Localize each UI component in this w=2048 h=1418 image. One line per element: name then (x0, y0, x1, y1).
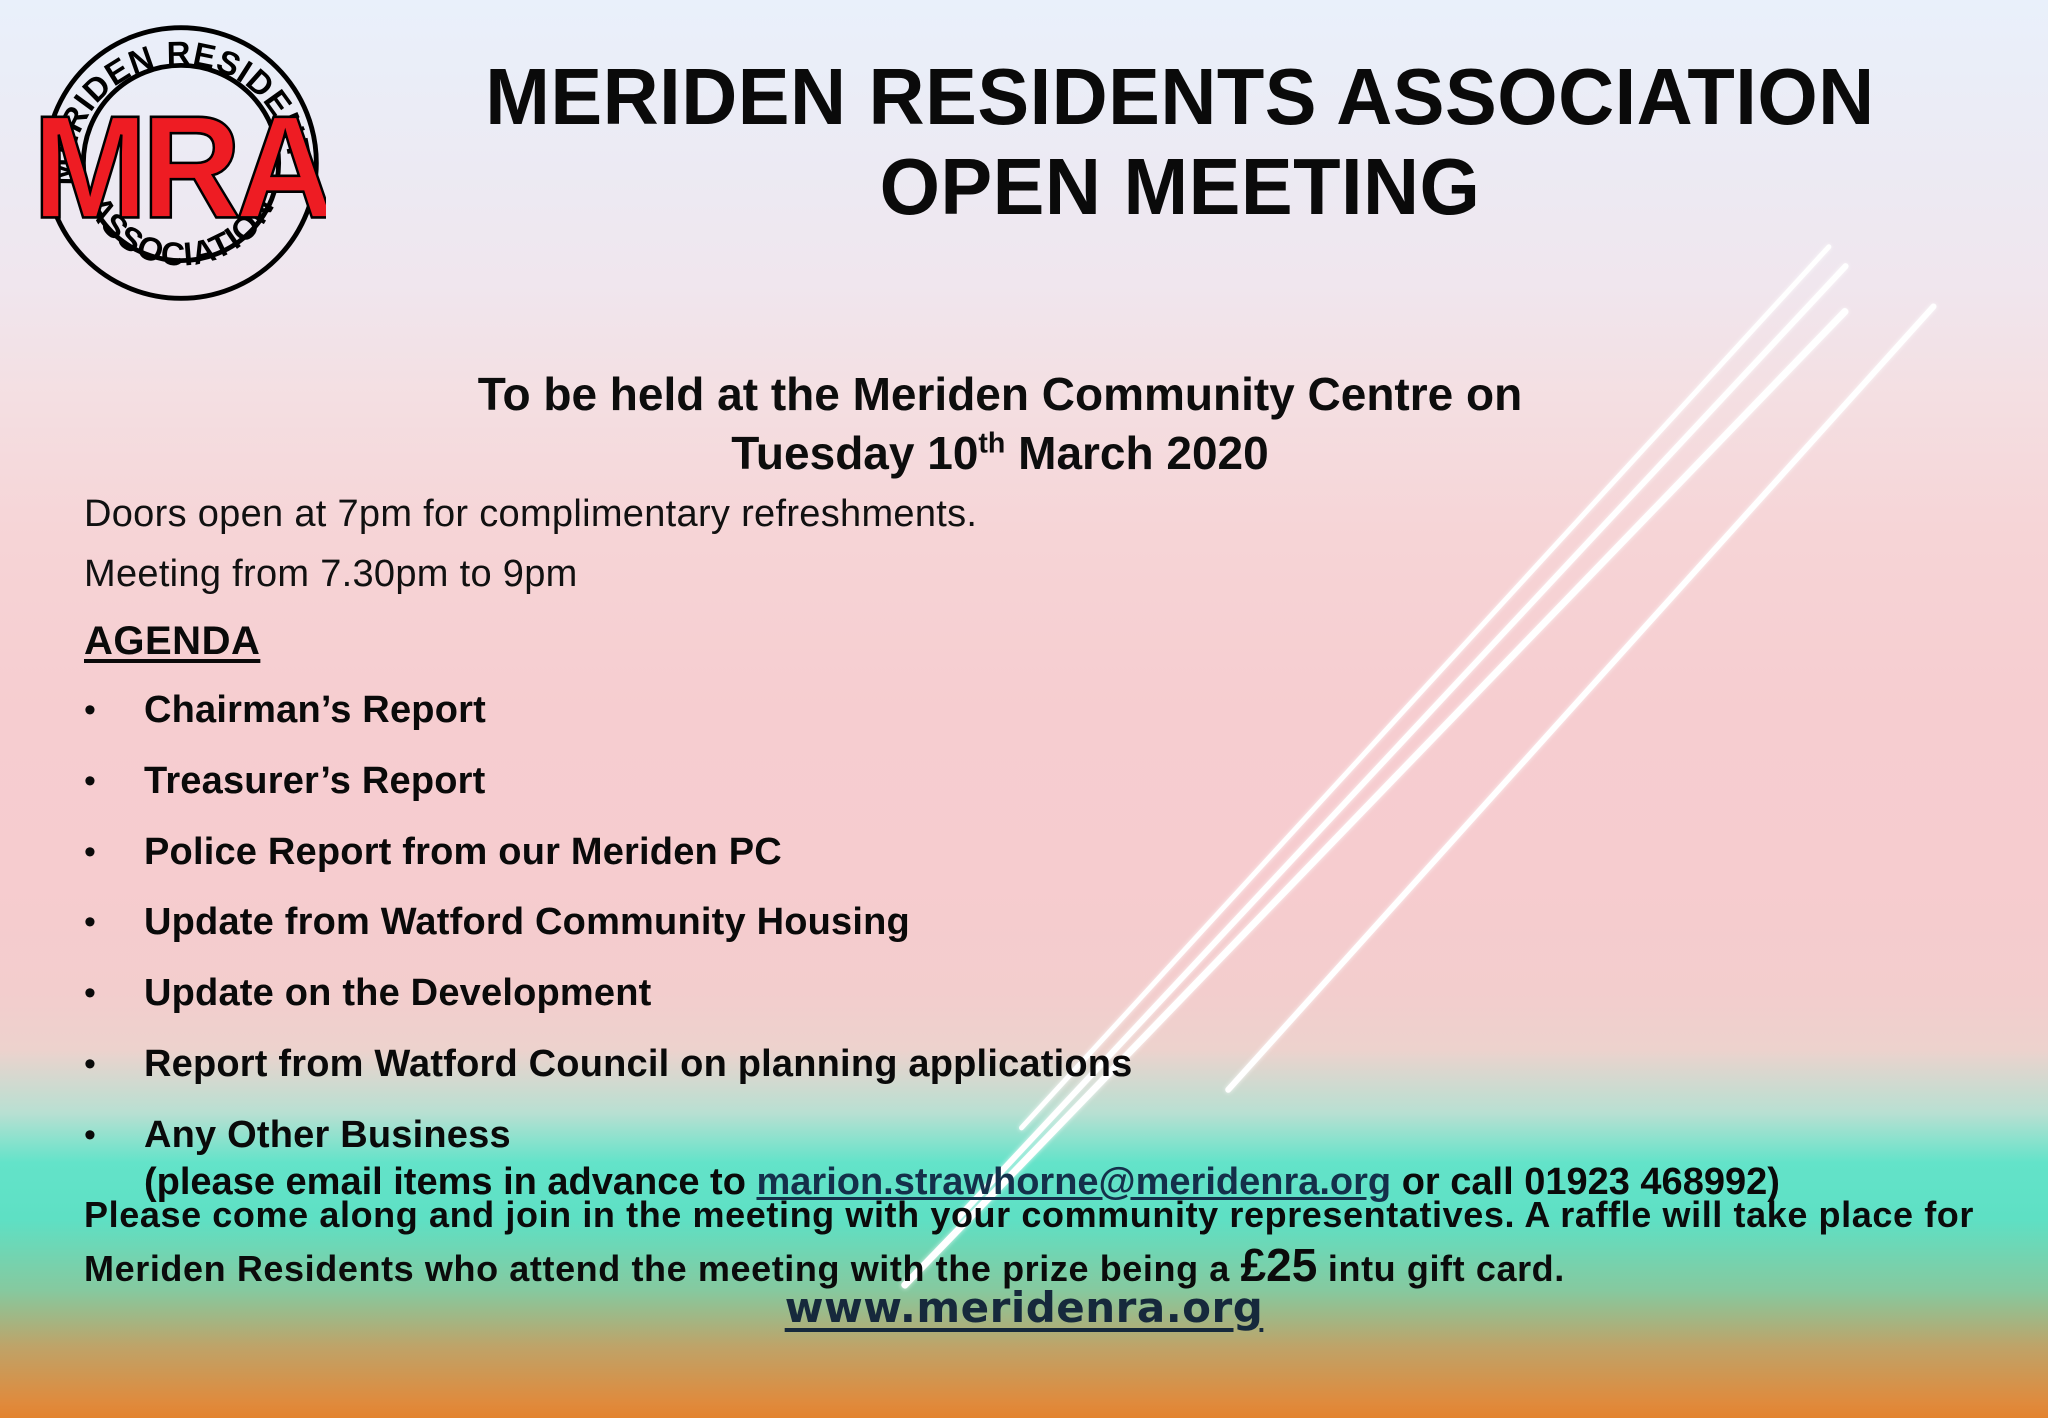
agenda-item-label: Chairman’s Report (144, 688, 486, 733)
agenda-item: • Chairman’s Report (84, 688, 1944, 733)
agenda-item: • Report from Watford Council on plannin… (84, 1042, 1944, 1087)
agenda-item-label: Update on the Development (144, 971, 652, 1016)
agenda-item: • Update on the Development (84, 971, 1944, 1016)
website-link[interactable]: www.meridenra.org (785, 1283, 1264, 1332)
subtitle-date-suffix: March 2020 (1005, 427, 1268, 479)
logo: MERIDEN RESIDENTS ASSOCIATION MRA (36, 18, 326, 308)
body-content: Doors open at 7pm for complimentary refr… (84, 495, 1944, 1231)
title-line-1: MERIDEN RESIDENTS ASSOCIATION (404, 52, 1956, 142)
meeting-time-line: Meeting from 7.30pm to 9pm (84, 555, 1944, 593)
agenda-item-label: Update from Watford Community Housing (144, 900, 910, 945)
svg-text:MRA: MRA (36, 86, 326, 249)
doors-open-line: Doors open at 7pm for complimentary refr… (84, 495, 1944, 533)
title-line-2: OPEN MEETING (404, 142, 1956, 232)
bullet-icon: • (84, 759, 144, 801)
bullet-icon: • (84, 688, 144, 730)
closing-line-1: Please come along and join in the meetin… (84, 1193, 1984, 1237)
page-title: MERIDEN RESIDENTS ASSOCIATION OPEN MEETI… (380, 52, 1980, 231)
subtitle-date: Tuesday 10th March 2020 (60, 424, 1940, 483)
agenda-item: • Treasurer’s Report (84, 759, 1944, 804)
subtitle: To be held at the Meriden Community Cent… (60, 365, 1940, 483)
bullet-icon: • (84, 971, 144, 1013)
agenda-item: • Police Report from our Meriden PC (84, 830, 1944, 875)
subtitle-date-prefix: Tuesday 10 (731, 427, 978, 479)
agenda-item: • Any Other Business (please email items… (84, 1113, 1944, 1205)
bullet-icon: • (84, 1113, 144, 1155)
agenda-item-label: Treasurer’s Report (144, 759, 486, 804)
agenda-heading: AGENDA (84, 619, 260, 664)
website-footer: www.meridenra.org (0, 1283, 2048, 1332)
agenda-item: • Update from Watford Community Housing (84, 900, 1944, 945)
subtitle-date-ordinal: th (978, 428, 1005, 460)
agenda-item-label: Report from Watford Council on planning … (144, 1042, 1133, 1087)
closing-message: Please come along and join in the meetin… (84, 1193, 1984, 1293)
agenda-item-label: Police Report from our Meriden PC (144, 830, 782, 875)
agenda-list: • Chairman’s Report • Treasurer’s Report… (84, 688, 1944, 1205)
mra-logo-icon: MERIDEN RESIDENTS ASSOCIATION MRA (36, 18, 326, 308)
agenda-item-aob: Any Other Business (please email items i… (144, 1113, 1780, 1205)
agenda-item-label: Any Other Business (144, 1114, 511, 1156)
bullet-icon: • (84, 1042, 144, 1084)
bullet-icon: • (84, 830, 144, 872)
subtitle-venue: To be held at the Meriden Community Cent… (60, 365, 1940, 424)
poster-canvas: MERIDEN RESIDENTS ASSOCIATION MRA MERIDE… (0, 0, 2048, 1418)
bullet-icon: • (84, 900, 144, 942)
